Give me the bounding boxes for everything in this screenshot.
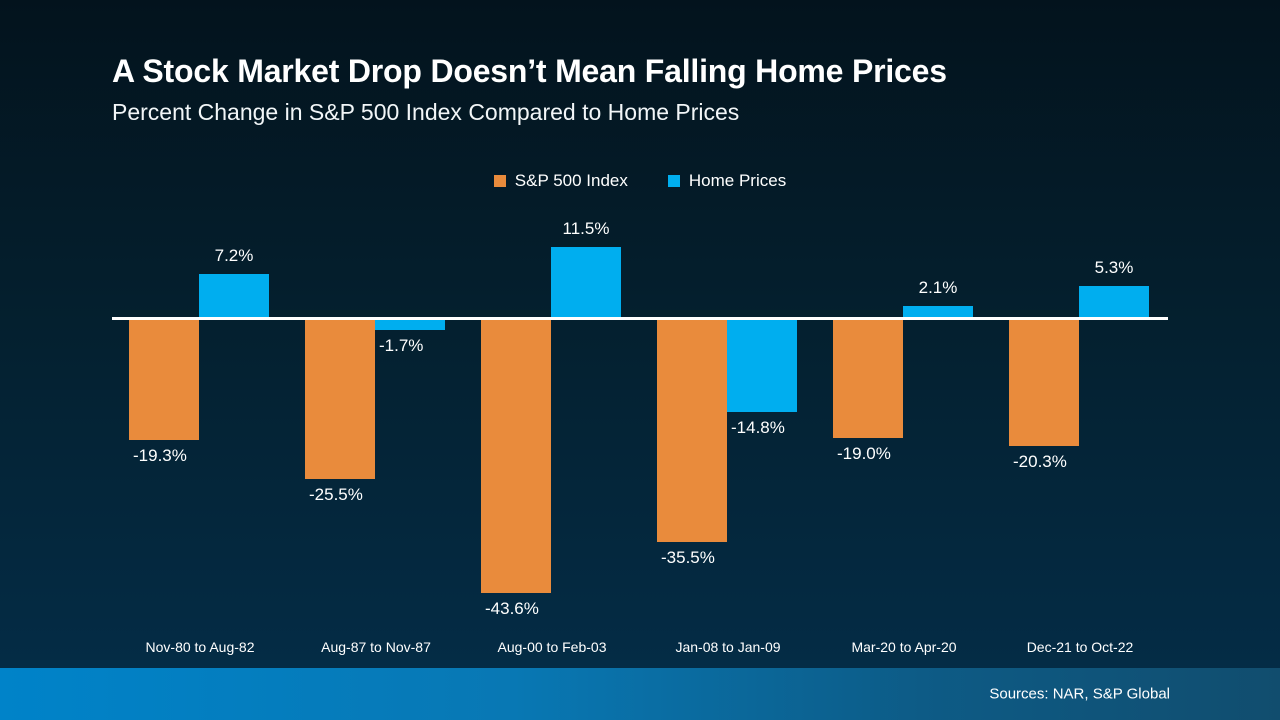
bar-sp500[interactable]: [129, 319, 199, 440]
category-label: Nov-80 to Aug-82: [129, 640, 271, 654]
bar-value-label: 11.5%: [551, 220, 621, 237]
category-label: Aug-00 to Feb-03: [481, 640, 623, 654]
bar-sp500[interactable]: [305, 319, 375, 479]
bar-value-label: -19.3%: [133, 447, 187, 464]
bar-value-label: -25.5%: [309, 486, 363, 503]
chart-plot-area: -19.3%7.2%Nov-80 to Aug-82-25.5%-1.7%Aug…: [0, 0, 1280, 668]
category-label: Jan-08 to Jan-09: [657, 640, 799, 654]
bar-value-label: 7.2%: [199, 247, 269, 264]
bar-value-label: -20.3%: [1013, 453, 1067, 470]
bar-home-prices[interactable]: [375, 319, 445, 330]
bar-value-label: -14.8%: [731, 419, 785, 436]
footer-bar: Sources: NAR, S&P Global: [0, 668, 1280, 720]
bar-value-label: -43.6%: [485, 600, 539, 617]
bar-value-label: 5.3%: [1079, 259, 1149, 276]
category-label: Dec-21 to Oct-22: [1009, 640, 1151, 654]
bar-home-prices[interactable]: [727, 319, 797, 412]
bar-group: -43.6%11.5%Aug-00 to Feb-03: [481, 0, 623, 668]
bar-group: -19.0%2.1%Mar-20 to Apr-20: [833, 0, 975, 668]
bar-group: -35.5%-14.8%Jan-08 to Jan-09: [657, 0, 799, 668]
category-label: Aug-87 to Nov-87: [305, 640, 447, 654]
bar-value-label: -35.5%: [661, 549, 715, 566]
bar-home-prices[interactable]: [1079, 286, 1149, 319]
bar-sp500[interactable]: [657, 319, 727, 542]
bar-group: -25.5%-1.7%Aug-87 to Nov-87: [305, 0, 447, 668]
bar-home-prices[interactable]: [199, 274, 269, 319]
footer-sources-text: Sources: NAR, S&P Global: [989, 686, 1170, 703]
bar-value-label: 2.1%: [903, 279, 973, 296]
zero-axis-line: [112, 317, 1168, 320]
bar-sp500[interactable]: [833, 319, 903, 438]
bar-sp500[interactable]: [1009, 319, 1079, 446]
bar-group: -19.3%7.2%Nov-80 to Aug-82: [129, 0, 271, 668]
bar-home-prices[interactable]: [551, 247, 621, 319]
bar-group: -20.3%5.3%Dec-21 to Oct-22: [1009, 0, 1151, 668]
category-label: Mar-20 to Apr-20: [833, 640, 975, 654]
bar-value-label: -19.0%: [837, 445, 891, 462]
bar-value-label: -1.7%: [379, 337, 423, 354]
bar-sp500[interactable]: [481, 319, 551, 593]
